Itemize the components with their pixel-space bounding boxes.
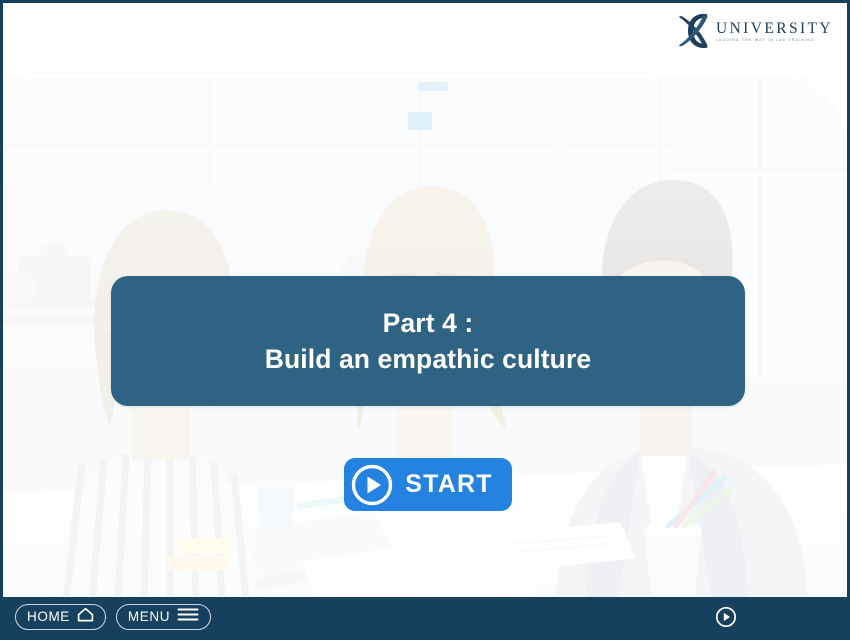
slide-title-card: Part 4 : Build an empathic culture xyxy=(111,276,745,406)
course-slide: UNIVERSITY LEADING THE WAY IN L&D TRAINI… xyxy=(0,0,850,640)
title-line-part: Part 4 : xyxy=(383,305,474,341)
slide-header: UNIVERSITY LEADING THE WAY IN L&D TRAINI… xyxy=(3,3,847,60)
player-bottom-bar: HOME MENU xyxy=(3,597,847,637)
play-circle-outline-icon[interactable] xyxy=(715,606,737,628)
xc-monogram-icon xyxy=(677,11,719,51)
hamburger-icon xyxy=(177,607,199,627)
menu-button-label: MENU xyxy=(128,610,170,624)
logo-tagline: LEADING THE WAY IN L&D TRAINING xyxy=(716,39,833,43)
start-button[interactable]: START xyxy=(344,458,512,511)
slide-stage: Part 4 : Build an empathic culture START xyxy=(3,60,847,600)
play-circle-icon xyxy=(344,458,400,511)
logo-text-block: UNIVERSITY LEADING THE WAY IN L&D TRAINI… xyxy=(716,19,833,43)
start-button-label: START xyxy=(400,470,512,499)
university-logo: UNIVERSITY LEADING THE WAY IN L&D TRAINI… xyxy=(677,10,833,52)
logo-word: UNIVERSITY xyxy=(716,21,833,37)
home-button[interactable]: HOME xyxy=(15,604,106,630)
home-icon xyxy=(77,607,94,627)
home-button-label: HOME xyxy=(27,610,70,624)
title-line-subject: Build an empathic culture xyxy=(265,341,591,377)
menu-button[interactable]: MENU xyxy=(116,604,211,630)
